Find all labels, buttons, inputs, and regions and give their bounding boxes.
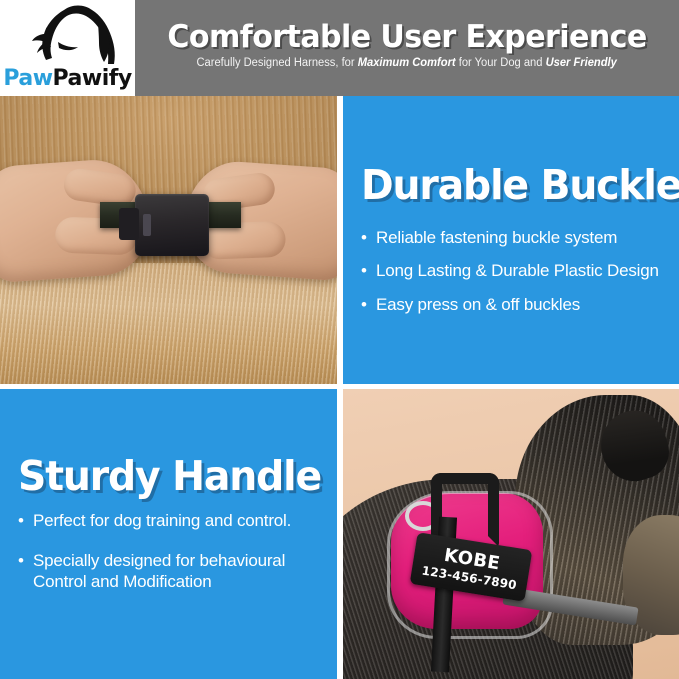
brand-logo: PawPawify <box>0 0 135 96</box>
durable-buckle-panel: Durable Buckle • Reliable fastening buck… <box>343 96 679 384</box>
bullet-icon: • <box>361 261 367 281</box>
list-item-label: Long Lasting & Durable Plastic Design <box>376 261 659 280</box>
list-item-label: Perfect for dog training and control. <box>33 511 291 530</box>
durable-buckle-bullet-list: • Reliable fastening buckle system • Lon… <box>361 228 665 314</box>
product-infographic: PawPawify Comfortable User Experience Ca… <box>0 0 679 679</box>
header: PawPawify Comfortable User Experience Ca… <box>0 0 679 96</box>
bullet-icon: • <box>18 551 24 571</box>
hands-fastening-buckle-photo <box>0 96 337 384</box>
subtitle-mid: for Your Dog and <box>456 57 546 69</box>
header-title: Comfortable User Experience <box>167 21 646 54</box>
sturdy-handle-panel: Sturdy Handle • Perfect for dog training… <box>0 389 337 679</box>
list-item: • Long Lasting & Durable Plastic Design <box>361 261 665 281</box>
header-subtitle: Carefully Designed Harness, for Maximum … <box>197 57 617 71</box>
brand-word-part1: Paw <box>3 66 52 91</box>
brand-wordmark: PawPawify <box>3 68 131 90</box>
subtitle-lead: Carefully Designed Harness, for <box>197 57 358 69</box>
list-item-label: Specially designed for behavioural Contr… <box>33 551 285 590</box>
list-item: • Perfect for dog training and control. <box>18 511 323 531</box>
list-item-label: Easy press on & off buckles <box>376 295 580 314</box>
harness-photo-cell: KOBE 123-456-7890 <box>343 389 679 679</box>
dog-head-outline-icon <box>28 2 128 68</box>
durable-buckle-title: Durable Buckle <box>361 165 653 206</box>
sturdy-handle-bullet-list: • Perfect for dog training and control. … <box>18 511 323 611</box>
subtitle-bold-2: User Friendly <box>546 57 617 69</box>
list-item: • Specially designed for behavioural Con… <box>18 551 323 591</box>
subtitle-bold-1: Maximum Comfort <box>358 57 456 69</box>
dog-fur-foreground <box>0 263 337 384</box>
dog-wearing-harness-photo: KOBE 123-456-7890 <box>343 389 679 679</box>
buckle-photo-cell <box>0 96 337 384</box>
brand-word-part2: Pawify <box>53 66 132 91</box>
bullet-icon: • <box>361 295 367 315</box>
sturdy-handle-title: Sturdy Handle <box>18 456 311 497</box>
bullet-icon: • <box>361 228 367 248</box>
dog-ear <box>592 403 676 490</box>
list-item-label: Reliable fastening buckle system <box>376 228 617 247</box>
list-item: • Easy press on & off buckles <box>361 295 665 315</box>
list-item: • Reliable fastening buckle system <box>361 228 665 248</box>
feature-grid: Durable Buckle • Reliable fastening buck… <box>0 96 679 679</box>
bullet-icon: • <box>18 511 24 531</box>
header-banner: Comfortable User Experience Carefully De… <box>135 0 679 96</box>
plastic-buckle <box>135 194 209 256</box>
